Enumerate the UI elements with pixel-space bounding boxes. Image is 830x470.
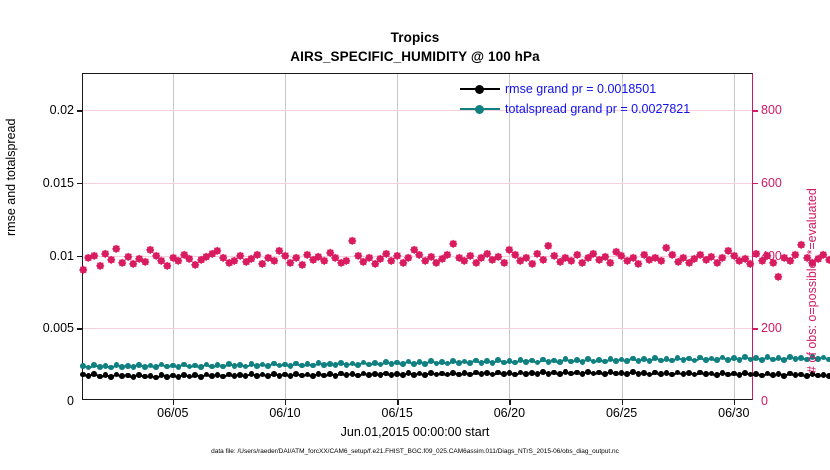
legend-label: rmse grand pr = 0.0018501 — [505, 82, 656, 96]
data-point-num_obs_evaluated — [107, 256, 116, 265]
data-point-totalspread — [327, 361, 333, 367]
data-point-rmse — [602, 371, 608, 377]
data-point-totalspread — [282, 362, 288, 368]
data-point-rmse — [501, 371, 507, 377]
x-tick-label: 06/30 — [718, 406, 749, 420]
data-point-totalspread — [585, 356, 591, 362]
data-point-totalspread — [574, 357, 580, 363]
data-point-rmse — [484, 370, 490, 376]
data-point-num_obs_evaluated — [606, 258, 615, 267]
data-point-totalspread — [512, 360, 518, 366]
x-tick — [622, 399, 623, 405]
legend-marker-icon — [460, 103, 500, 114]
data-point-totalspread — [411, 361, 417, 367]
y-tick-right — [752, 256, 758, 257]
data-point-rmse — [473, 370, 479, 376]
y-tick-label-left: 0.015 — [43, 176, 74, 190]
data-point-rmse — [585, 369, 591, 375]
data-point-num_obs_evaluated — [297, 261, 306, 270]
data-point-rmse — [181, 372, 187, 378]
legend-rmse[interactable]: rmse grand pr = 0.0018501 — [460, 80, 690, 97]
data-point-num_obs_evaluated — [634, 260, 643, 269]
data-point-totalspread — [271, 361, 277, 367]
data-point-rmse — [529, 370, 535, 376]
x-tick-label: 06/05 — [157, 406, 188, 420]
data-point-rmse — [787, 371, 793, 377]
data-point-totalspread — [383, 359, 389, 365]
data-point-rmse — [226, 372, 232, 378]
data-point-totalspread — [686, 356, 692, 362]
y-tick-right — [752, 110, 758, 111]
y-tick-label-right: 800 — [761, 103, 782, 117]
legend-totalspread[interactable]: totalspread grand pr = 0.0027821 — [460, 100, 690, 117]
data-point-rmse — [209, 373, 215, 379]
data-point-rmse — [400, 372, 406, 378]
data-point-rmse — [299, 373, 305, 379]
data-point-num_obs_evaluated — [95, 261, 104, 270]
data-point-num_obs_evaluated — [342, 256, 351, 265]
data-point-num_obs_evaluated — [348, 237, 357, 246]
data-point-totalspread — [714, 357, 720, 363]
legend-label: totalspread grand pr = 0.0027821 — [505, 102, 690, 116]
data-point-totalspread — [731, 355, 737, 361]
data-point-totalspread — [467, 360, 473, 366]
plot-figure: Tropics AIRS_SPECIFIC_HUMIDITY @ 100 hPa… — [0, 0, 830, 470]
data-point-totalspread — [153, 364, 159, 370]
data-point-totalspread — [400, 361, 406, 367]
data-point-totalspread — [181, 362, 187, 368]
x-tick — [509, 399, 510, 405]
data-point-rmse — [428, 370, 434, 376]
data-point-num_obs_evaluated — [449, 240, 458, 249]
data-point-totalspread — [209, 364, 215, 370]
data-point-num_obs_evaluated — [774, 273, 783, 282]
data-point-rmse — [254, 373, 260, 379]
data-point-totalspread — [658, 358, 664, 364]
data-point-rmse — [108, 374, 114, 380]
data-point-num_obs_evaluated — [527, 260, 536, 269]
data-point-rmse — [815, 373, 821, 379]
chart-title-line1: Tropics — [0, 28, 830, 47]
data-point-rmse — [686, 370, 692, 376]
data-point-rmse — [731, 371, 737, 377]
data-point-totalspread — [557, 359, 563, 365]
y-tick-label-left: 0.02 — [50, 103, 74, 117]
data-point-totalspread — [428, 358, 434, 364]
data-point-rmse — [557, 371, 563, 377]
data-point-num_obs_evaluated — [746, 260, 755, 269]
data-layer — [83, 74, 752, 399]
legend-marker-icon — [460, 83, 500, 94]
y-tick-label-right: 400 — [761, 249, 782, 263]
data-point-totalspread — [344, 362, 350, 368]
data-point-num_obs_evaluated — [544, 242, 553, 251]
data-point-totalspread — [501, 360, 507, 366]
x-tick-label: 06/25 — [606, 406, 637, 420]
data-point-totalspread — [80, 363, 86, 369]
data-point-rmse — [675, 370, 681, 376]
data-point-totalspread — [254, 363, 260, 369]
data-point-rmse — [282, 372, 288, 378]
x-tick — [734, 399, 735, 405]
chart-title-line2: AIRS_SPECIFIC_HUMIDITY @ 100 hPa — [0, 47, 830, 66]
y-tick-label-left: 0.01 — [50, 249, 74, 263]
x-tick-label: 06/15 — [382, 406, 413, 420]
x-tick — [173, 399, 174, 405]
data-point-rmse — [703, 371, 709, 377]
data-point-totalspread — [170, 363, 176, 369]
data-point-totalspread — [198, 364, 204, 370]
y-tick-left — [77, 328, 83, 329]
data-point-totalspread — [826, 357, 830, 363]
y-tick-label-right: 600 — [761, 176, 782, 190]
data-point-rmse — [456, 372, 462, 378]
data-point-num_obs_evaluated — [499, 259, 508, 268]
data-point-num_obs_evaluated — [656, 256, 665, 265]
data-point-totalspread — [142, 364, 148, 370]
chart-title: Tropics AIRS_SPECIFIC_HUMIDITY @ 100 hPa — [0, 28, 830, 66]
data-point-rmse — [80, 372, 86, 378]
y-tick-label-right: 0 — [761, 394, 768, 408]
data-point-totalspread — [237, 362, 243, 368]
data-point-totalspread — [484, 358, 490, 364]
data-point-totalspread — [759, 357, 765, 363]
data-point-rmse — [97, 374, 103, 380]
data-point-totalspread — [675, 355, 681, 361]
y-tick-left — [77, 256, 83, 257]
data-point-rmse — [411, 372, 417, 378]
data-point-num_obs_evaluated — [163, 262, 172, 271]
y-tick-label-left: 0 — [67, 394, 74, 408]
data-point-rmse — [714, 372, 720, 378]
y-tick-label-right: 200 — [761, 321, 782, 335]
data-point-rmse — [125, 373, 131, 379]
data-point-num_obs_evaluated — [825, 256, 830, 265]
y-tick-label-left: 0.005 — [43, 321, 74, 335]
data-point-totalspread — [630, 356, 636, 362]
data-point-rmse — [759, 373, 765, 379]
data-point-totalspread — [372, 360, 378, 366]
data-point-rmse — [613, 371, 619, 377]
data-point-totalspread — [742, 354, 748, 360]
y-tick-left — [77, 110, 83, 111]
data-point-totalspread — [473, 358, 479, 364]
data-point-totalspread — [243, 364, 249, 370]
data-point-num_obs_evaluated — [258, 260, 267, 269]
data-point-rmse — [826, 373, 830, 379]
data-point-totalspread — [456, 360, 462, 366]
data-point-rmse — [383, 371, 389, 377]
y-axis-label-right: # of obs: o=possible; *=evaluated — [805, 188, 819, 373]
data-point-rmse — [574, 370, 580, 376]
data-point-rmse — [142, 374, 148, 380]
data-point-totalspread — [299, 363, 305, 369]
data-point-rmse — [310, 373, 316, 379]
data-point-totalspread — [310, 363, 316, 369]
data-point-rmse — [372, 371, 378, 377]
data-point-rmse — [153, 375, 159, 381]
data-point-num_obs_evaluated — [112, 245, 121, 254]
data-point-num_obs_evaluated — [140, 258, 149, 267]
legend: rmse grand pr = 0.0018501totalspread gra… — [460, 80, 690, 117]
data-point-rmse — [271, 371, 277, 377]
data-point-rmse — [742, 370, 748, 376]
data-file-caption: data file: /Users/raeder/DAI/ATM_forcXX/… — [0, 448, 830, 455]
x-axis-label: Jun.01,2015 00:00:00 start — [0, 425, 830, 439]
x-tick-label: 06/20 — [494, 406, 525, 420]
data-point-totalspread — [226, 361, 232, 367]
y-tick-left — [77, 183, 83, 184]
data-point-rmse — [344, 372, 350, 378]
data-point-rmse — [327, 371, 333, 377]
data-point-rmse — [658, 371, 664, 377]
data-point-rmse — [243, 373, 249, 379]
data-point-rmse — [512, 372, 518, 378]
data-point-totalspread — [355, 362, 361, 368]
data-point-rmse — [641, 370, 647, 376]
x-tick — [397, 399, 398, 405]
data-point-num_obs_evaluated — [539, 256, 548, 265]
data-point-rmse — [630, 369, 636, 375]
y-tick-right — [752, 328, 758, 329]
plot-area: 06/0506/1006/1506/2006/2506/3000.0050.01… — [82, 73, 753, 400]
x-tick — [285, 399, 286, 405]
x-tick-label: 06/10 — [269, 406, 300, 420]
data-point-rmse — [170, 373, 176, 379]
data-point-totalspread — [613, 358, 619, 364]
data-point-totalspread — [703, 357, 709, 363]
data-point-totalspread — [602, 359, 608, 365]
data-point-totalspread — [529, 358, 535, 364]
data-point-totalspread — [125, 363, 131, 369]
y-axis-label-left: rmse and totalspread — [4, 119, 18, 236]
data-point-totalspread — [787, 354, 793, 360]
data-point-totalspread — [641, 356, 647, 362]
data-point-num_obs_evaluated — [78, 266, 87, 275]
data-point-totalspread — [97, 364, 103, 370]
data-point-num_obs_evaluated — [320, 257, 329, 266]
data-point-rmse — [804, 373, 810, 379]
data-point-rmse — [355, 373, 361, 379]
data-point-rmse — [198, 374, 204, 380]
data-point-num_obs_evaluated — [269, 256, 278, 265]
y-tick-right — [752, 183, 758, 184]
